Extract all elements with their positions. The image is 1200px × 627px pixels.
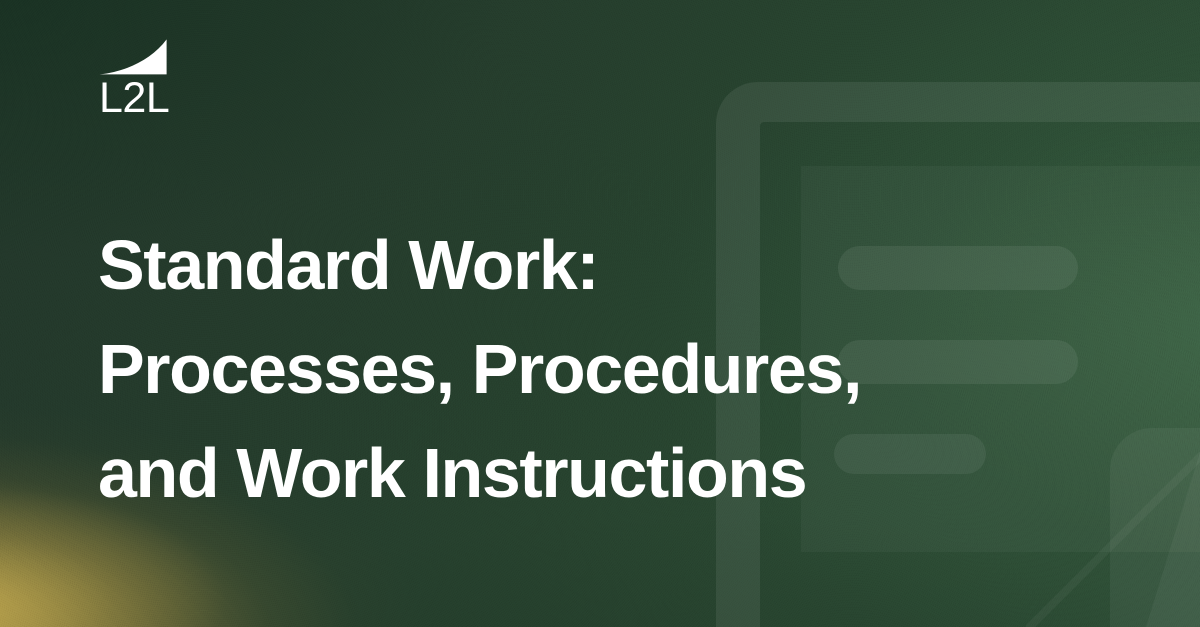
banner-canvas: L2L Standard Work: Processes, Procedures…	[0, 0, 1200, 627]
page-title-line-2: Processes, Procedures,	[98, 317, 1058, 421]
page-title: Standard Work: Processes, Procedures, an…	[98, 213, 1058, 525]
logo-wordmark: L2L	[99, 77, 185, 120]
rising-curve-logo-mark	[99, 38, 171, 76]
corner-tag-triangle	[1146, 452, 1200, 627]
page-title-line-3: and Work Instructions	[98, 421, 1058, 525]
logo[interactable]: L2L	[99, 38, 185, 120]
corner-tag	[1110, 428, 1200, 627]
page-title-line-1: Standard Work:	[98, 213, 1058, 317]
